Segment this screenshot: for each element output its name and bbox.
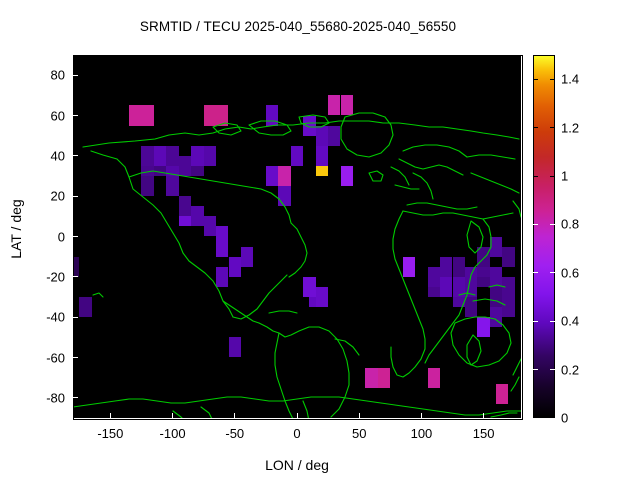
- x-tick-label: 50: [352, 426, 366, 441]
- colorbar-tick-mark: [533, 321, 538, 322]
- colorbar-tick-mark: [533, 224, 538, 225]
- x-tick-mark: [172, 413, 173, 418]
- x-tick-label: -150: [97, 426, 123, 441]
- x-tick-label: 100: [411, 426, 433, 441]
- y-tick-label: -80: [27, 390, 65, 405]
- colorbar-tick-label: 0.6: [561, 265, 579, 280]
- y-tick-label: -60: [27, 350, 65, 365]
- y-tick-label: 20: [27, 189, 65, 204]
- colorbar-tick-mark: [550, 418, 555, 419]
- colorbar-tick-mark: [533, 418, 538, 419]
- x-tick-label: 0: [293, 426, 300, 441]
- colorbar-tick-mark: [550, 369, 555, 370]
- colorbar-tick-mark: [550, 224, 555, 225]
- y-tick-label: 40: [27, 148, 65, 163]
- y-tick-mark: [73, 115, 78, 116]
- y-tick-mark: [73, 276, 78, 277]
- colorbar-tick-label: 1.2: [561, 120, 579, 135]
- colorbar-tick-mark: [533, 79, 538, 80]
- x-tick-label: -100: [160, 426, 186, 441]
- colorbar-tick-mark: [550, 127, 555, 128]
- x-tick-mark: [421, 413, 422, 418]
- y-tick-mark: [73, 236, 78, 237]
- y-tick-label: -20: [27, 269, 65, 284]
- figure-canvas: SRMTID / TECU 2025-040_55680-2025-040_56…: [0, 0, 640, 480]
- map-plot-area[interactable]: [73, 55, 521, 418]
- y-tick-mark: [73, 196, 78, 197]
- colorbar-tick-mark: [533, 127, 538, 128]
- colorbar-gradient: [534, 56, 554, 417]
- colorbar-tick-label: 0.2: [561, 362, 579, 377]
- colorbar-tick-mark: [550, 272, 555, 273]
- colorbar-tick-mark: [550, 176, 555, 177]
- x-tick-mark: [234, 413, 235, 418]
- chart-title: SRMTID / TECU 2025-040_55680-2025-040_56…: [0, 19, 596, 34]
- colorbar: [533, 55, 555, 418]
- colorbar-tick-label: 0: [561, 411, 568, 426]
- x-tick-mark: [483, 413, 484, 418]
- y-tick-mark: [73, 75, 78, 76]
- colorbar-tick-mark: [533, 369, 538, 370]
- x-tick-label: -50: [225, 426, 244, 441]
- colorbar-tick-label: 1: [561, 169, 568, 184]
- y-tick-label: 60: [27, 108, 65, 123]
- y-tick-label: 0: [27, 229, 65, 244]
- colorbar-tick-label: 0.4: [561, 314, 579, 329]
- y-tick-label: 80: [27, 68, 65, 83]
- x-tick-label: 150: [473, 426, 495, 441]
- colorbar-tick-mark: [550, 321, 555, 322]
- y-tick-mark: [73, 155, 78, 156]
- colorbar-tick-mark: [550, 79, 555, 80]
- y-axis-label: LAT / deg: [8, 129, 24, 329]
- colorbar-tick-label: 0.8: [561, 217, 579, 232]
- x-axis-label: LON / deg: [73, 457, 521, 473]
- y-tick-mark: [73, 317, 78, 318]
- y-tick-mark: [73, 357, 78, 358]
- x-tick-mark: [359, 413, 360, 418]
- colorbar-tick-mark: [533, 272, 538, 273]
- y-tick-mark: [73, 397, 78, 398]
- x-tick-mark: [297, 413, 298, 418]
- colorbar-tick-mark: [533, 176, 538, 177]
- y-tick-label: -40: [27, 310, 65, 325]
- coastline-overlay: [73, 55, 521, 418]
- colorbar-tick-label: 1.4: [561, 72, 579, 87]
- x-tick-mark: [110, 413, 111, 418]
